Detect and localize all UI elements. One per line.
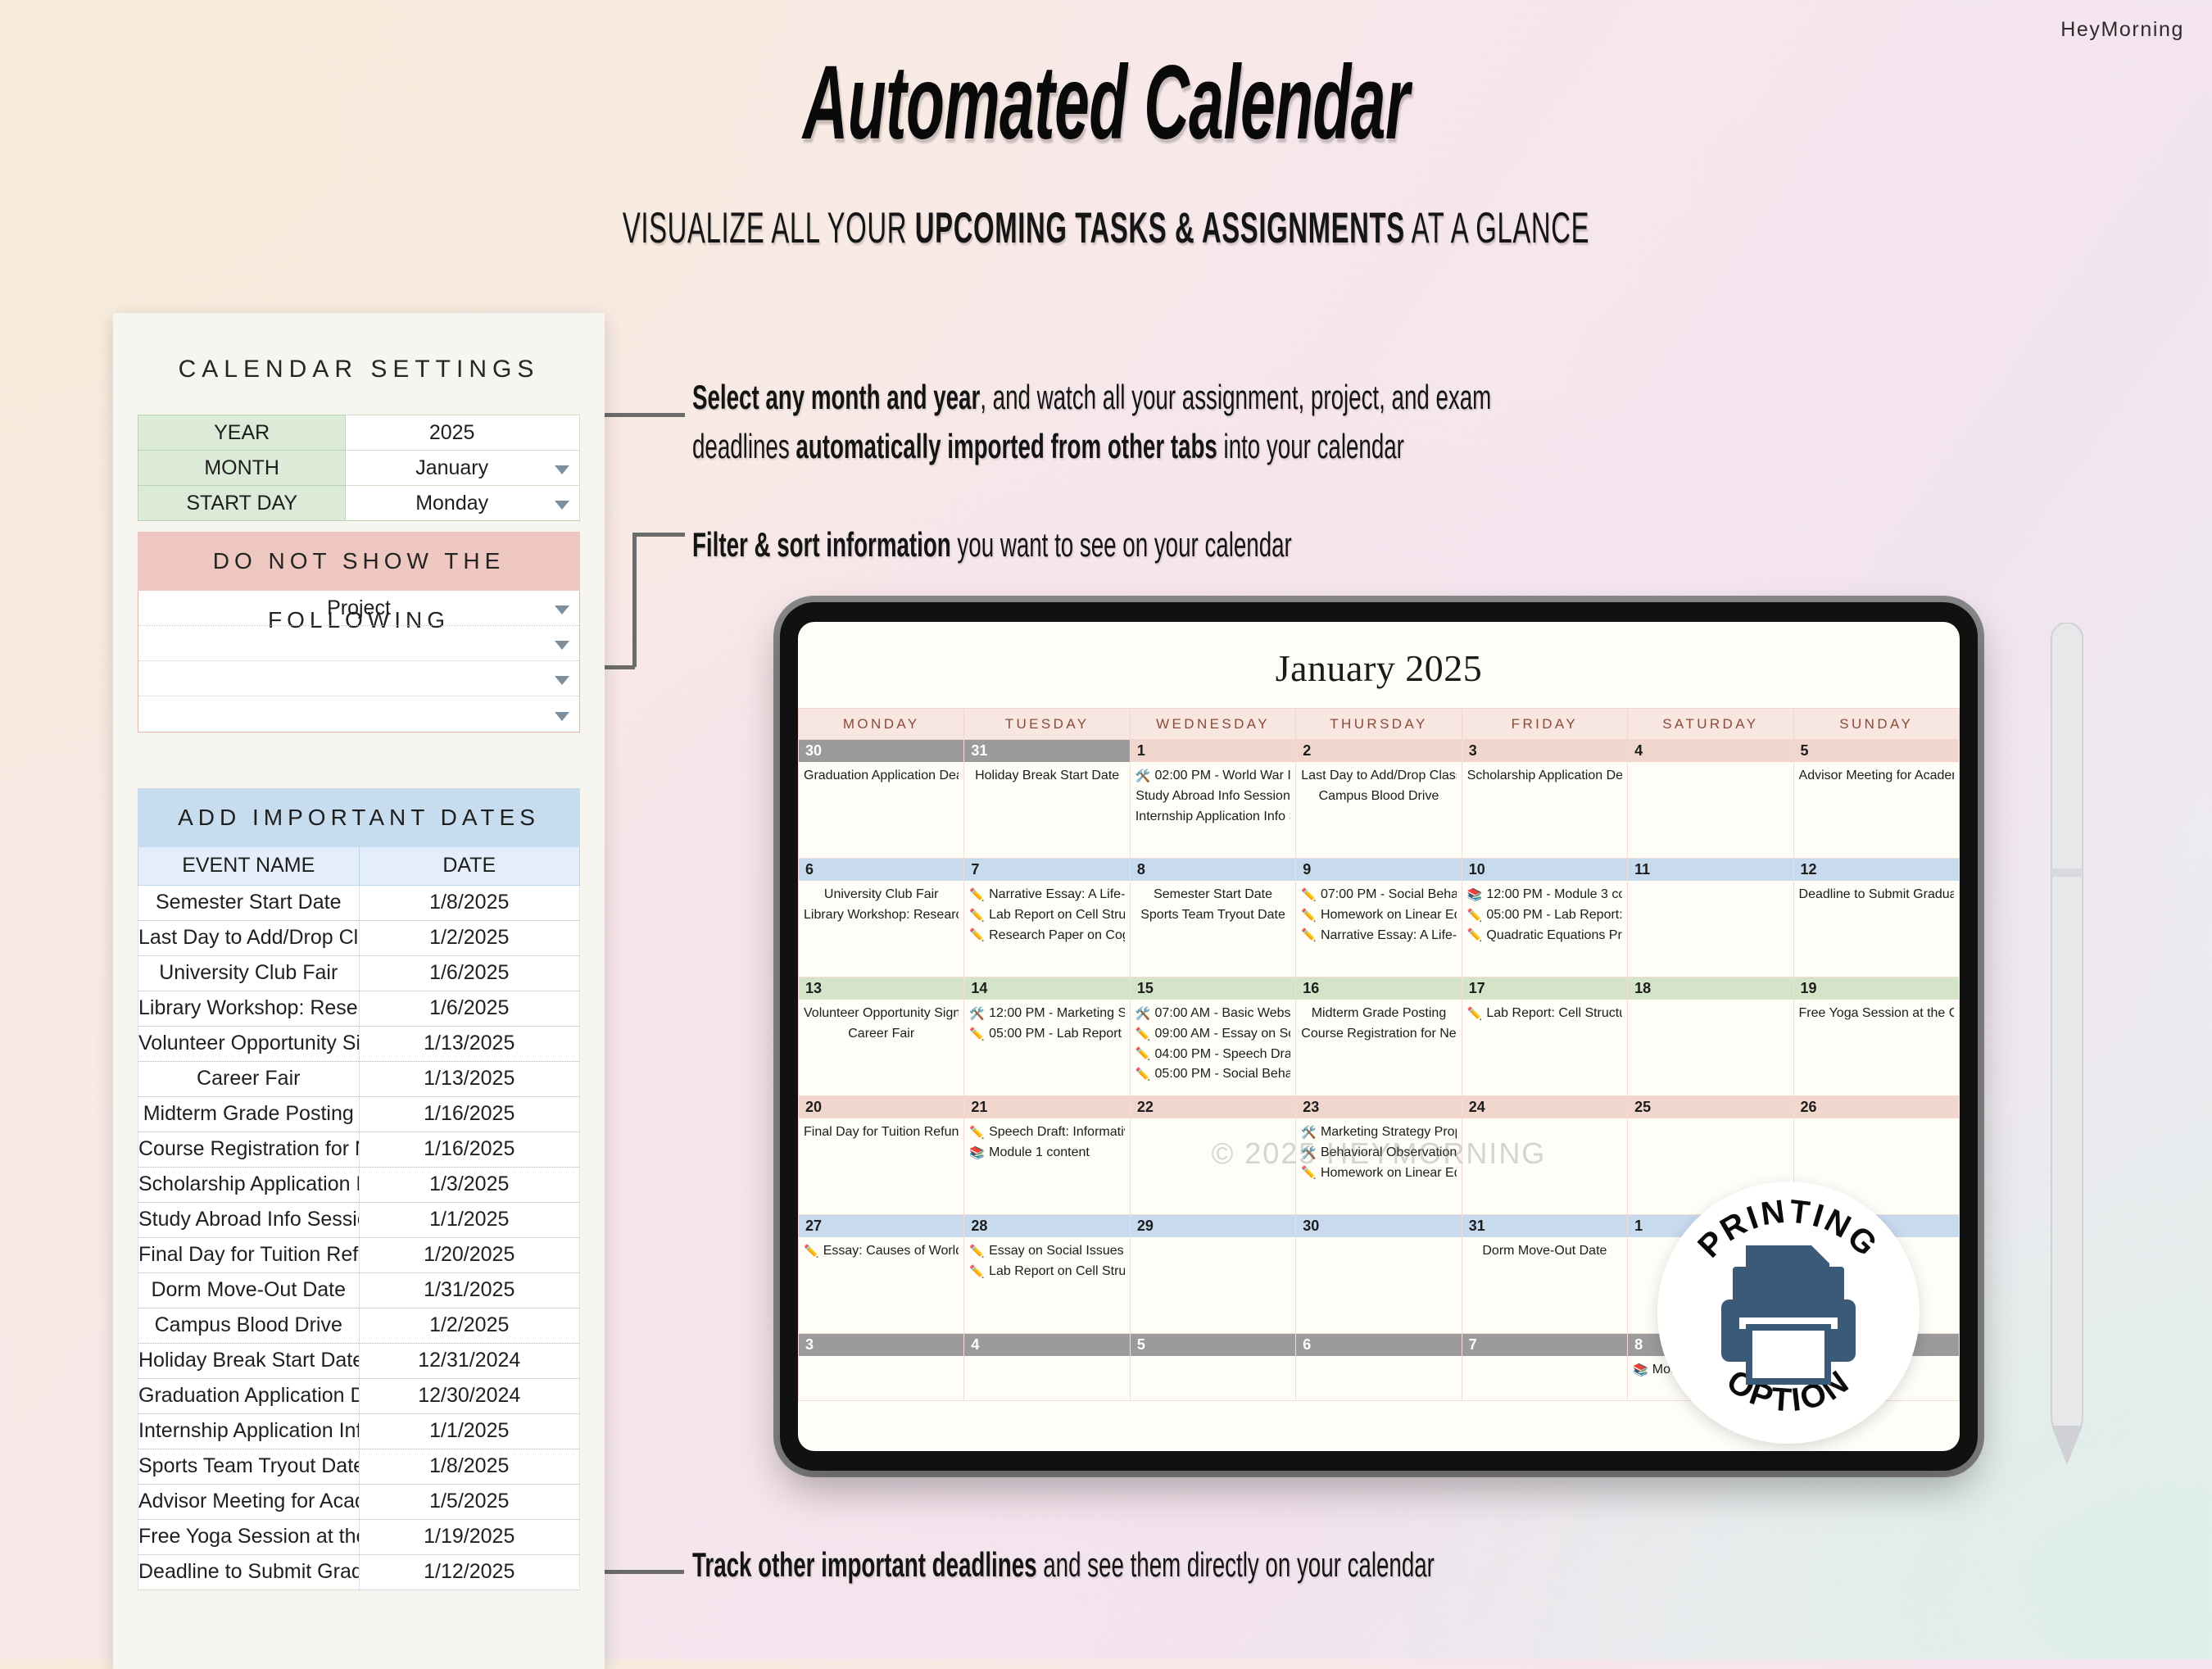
page-subtitle: VISUALIZE ALL YOUR UPCOMING TASKS & ASSI… bbox=[420, 203, 1792, 253]
spreadsheet-panel: CALENDAR SETTINGS YEAR 2025 MONTH Januar… bbox=[113, 313, 605, 1669]
calendar-week-row: 6University Club FairLibrary Workshop: R… bbox=[799, 859, 1960, 977]
day-number: 26 bbox=[1794, 1096, 1959, 1118]
calendar-day-cell[interactable]: 19Free Yoga Session at the Gym bbox=[1793, 977, 1959, 1096]
pencil-icon: ✏️ bbox=[969, 1025, 985, 1044]
table-row: Career Fair1/13/2025 bbox=[138, 1061, 580, 1096]
do-not-show-row[interactable] bbox=[138, 626, 579, 661]
day-events: ✏️Essay on Social Issues✏️Lab Report on … bbox=[964, 1237, 1129, 1282]
calendar-day-cell[interactable]: 9✏️07:00 PM - Social Behavior Case Study… bbox=[1296, 859, 1462, 977]
calendar-event-text: Scholarship Application Deadline bbox=[1467, 769, 1622, 782]
event-name-cell[interactable]: Holiday Break Start Date bbox=[138, 1343, 360, 1378]
calendar-event-text: University Club Fair bbox=[824, 887, 939, 901]
calendar-event[interactable]: Volunteer Opportunity Signup Deadline bbox=[804, 1004, 959, 1024]
day-number: 21 bbox=[964, 1096, 1129, 1118]
calendar-event-text: Quadratic Equations Problem Set bbox=[1486, 926, 1622, 946]
calendar-event[interactable]: 🛠️02:00 PM - World War II Research Paper bbox=[1135, 766, 1290, 787]
calendar-event[interactable]: Dorm Move-Out Date bbox=[1467, 1241, 1622, 1262]
calendar-day-cell[interactable]: 31Holiday Break Start Date bbox=[964, 740, 1130, 859]
calendar-day-cell[interactable]: 15🛠️07:00 AM - Basic Website Development… bbox=[1130, 977, 1295, 1096]
settings-row-month: MONTH January bbox=[138, 451, 580, 486]
calendar-event-text: 05:00 PM - Lab Report on Chemical Reacti… bbox=[989, 1024, 1125, 1045]
calendar-event[interactable]: ✏️Homework on Linear Equations bbox=[1301, 905, 1456, 926]
event-name-cell[interactable]: Scholarship Application Deadline bbox=[138, 1167, 360, 1202]
day-number: 28 bbox=[964, 1215, 1129, 1237]
calendar-event[interactable]: Midterm Grade Posting bbox=[1301, 1004, 1456, 1024]
calendar-event-text: Marketing Strategy Proposal bbox=[1321, 1122, 1457, 1143]
calendar-settings-table: YEAR 2025 MONTH January START DAY Monday bbox=[138, 415, 580, 521]
table-row: Study Abroad Info Session1/1/2025 bbox=[138, 1202, 580, 1237]
chevron-down-icon[interactable] bbox=[555, 641, 569, 650]
tools-icon: 🛠️ bbox=[1135, 1005, 1151, 1023]
event-date-cell[interactable]: 1/1/2025 bbox=[359, 1202, 580, 1237]
calendar-event[interactable]: 🛠️Behavioral Observation Report bbox=[1301, 1143, 1456, 1163]
calendar-event-text: Research Paper on Cognitive Biases bbox=[989, 926, 1125, 946]
calendar-event[interactable]: ✏️Lab Report on Cell Structure bbox=[969, 905, 1124, 926]
pencil-icon: ✏️ bbox=[1301, 926, 1317, 945]
calendar-day-cell[interactable]: 5 bbox=[1130, 1334, 1295, 1401]
calendar-event[interactable]: Campus Blood Drive bbox=[1301, 787, 1456, 807]
event-name-cell[interactable]: Library Workshop: Research Skills bbox=[138, 991, 360, 1026]
calendar-event-text: Course Registration for Next Semester Op… bbox=[1301, 1027, 1456, 1041]
calendar-day-cell[interactable]: 14🛠️12:00 PM - Marketing Strategy Propos… bbox=[964, 977, 1130, 1096]
calendar-day-cell[interactable]: 10📚12:00 PM - Module 3 content✏️05:00 PM… bbox=[1462, 859, 1627, 977]
calendar-day-cell[interactable]: 11 bbox=[1628, 859, 1793, 977]
event-name-cell[interactable]: Midterm Grade Posting bbox=[138, 1096, 360, 1132]
calendar-event[interactable]: ✏️07:00 PM - Social Behavior Case Study bbox=[1301, 885, 1456, 905]
calendar-week-row: 30Graduation Application Deadline31Holid… bbox=[799, 740, 1960, 859]
event-date-cell[interactable]: 1/20/2025 bbox=[359, 1237, 580, 1272]
day-number: 4 bbox=[964, 1334, 1129, 1356]
calendar-event[interactable]: Internship Application Info Session bbox=[1135, 807, 1290, 828]
calendar-day-cell[interactable]: 31Dorm Move-Out Date bbox=[1462, 1215, 1627, 1334]
day-number: 2 bbox=[1296, 740, 1461, 762]
day-events: Free Yoga Session at the Gym bbox=[1794, 1000, 1959, 1024]
do-not-show-row[interactable] bbox=[138, 661, 579, 696]
pencil-icon: ✏️ bbox=[1301, 886, 1317, 905]
calendar-event-text: 07:00 PM - Social Behavior Case Study bbox=[1321, 885, 1457, 905]
calendar-day-cell[interactable]: 18 bbox=[1628, 977, 1793, 1096]
calendar-event[interactable]: Graduation Application Deadline bbox=[804, 766, 959, 787]
calendar-day-cell[interactable]: 4 bbox=[964, 1334, 1130, 1401]
day-events: Advisor Meeting for Academic Planning bbox=[1794, 762, 1959, 787]
pencil-icon: ✏️ bbox=[1467, 906, 1483, 925]
settings-row-year: YEAR 2025 bbox=[138, 415, 580, 451]
day-number: 7 bbox=[964, 859, 1129, 881]
event-name-cell[interactable]: Deadline to Submit Graduation Cap & Gown bbox=[138, 1554, 360, 1590]
calendar-event[interactable]: ✏️05:00 PM - Lab Report on Chemical Reac… bbox=[969, 1024, 1124, 1045]
event-name-cell[interactable]: Free Yoga Session at the Gym bbox=[138, 1519, 360, 1554]
calendar-day-cell[interactable]: 6 bbox=[1296, 1334, 1462, 1401]
calendar-event-text: 05:00 PM - Lab Report: Cell Structure An… bbox=[1486, 905, 1622, 926]
table-row: Free Yoga Session at the Gym1/19/2025 bbox=[138, 1519, 580, 1554]
calendar-day-cell[interactable]: 5Advisor Meeting for Academic Planning bbox=[1793, 740, 1959, 859]
event-name-cell[interactable]: Last Day to Add/Drop Classes bbox=[138, 920, 360, 955]
event-date-cell[interactable]: 1/5/2025 bbox=[359, 1484, 580, 1519]
calendar-event[interactable]: Sports Team Tryout Date bbox=[1135, 905, 1290, 926]
weekday-header-sunday: SUNDAY bbox=[1793, 709, 1959, 740]
calendar-day-cell[interactable]: 6University Club FairLibrary Workshop: R… bbox=[799, 859, 964, 977]
event-name-cell[interactable]: Dorm Move-Out Date bbox=[138, 1272, 360, 1308]
calendar-day-cell[interactable]: 22 bbox=[1130, 1096, 1295, 1215]
printing-option-badge: PRINTING OPTION bbox=[1657, 1181, 1920, 1444]
calendar-day-cell[interactable]: 4 bbox=[1628, 740, 1793, 859]
calendar-event-text: Internship Application Info Session bbox=[1135, 810, 1290, 823]
pencil-icon: ✏️ bbox=[1467, 1005, 1483, 1023]
pencil-icon: ✏️ bbox=[969, 886, 985, 905]
do-not-show-section: DO NOT SHOW THE FOLLOWING Project bbox=[138, 532, 580, 732]
calendar-event-text: Dorm Move-Out Date bbox=[1482, 1244, 1607, 1258]
settings-label-month: MONTH bbox=[138, 451, 346, 486]
day-events: Volunteer Opportunity Signup DeadlineCar… bbox=[799, 1000, 963, 1045]
table-row: Internship Application Info Session1/1/2… bbox=[138, 1413, 580, 1449]
calendar-event[interactable]: 🛠️07:00 AM - Basic Website Development bbox=[1135, 1004, 1290, 1024]
calendar-event[interactable]: ✏️05:00 PM - Social Behavior Case Study bbox=[1135, 1064, 1290, 1085]
calendar-day-cell[interactable]: 2Last Day to Add/Drop ClassesCampus Bloo… bbox=[1296, 740, 1462, 859]
day-number: 5 bbox=[1131, 1334, 1295, 1356]
tools-icon: 🛠️ bbox=[969, 1005, 985, 1023]
table-row: Graduation Application Deadline12/30/202… bbox=[138, 1378, 580, 1413]
day-events bbox=[1296, 1237, 1461, 1241]
calendar-event[interactable]: Last Day to Add/Drop Classes bbox=[1301, 766, 1456, 787]
event-date-cell[interactable]: 1/3/2025 bbox=[359, 1167, 580, 1202]
event-date-cell[interactable]: 12/31/2024 bbox=[359, 1343, 580, 1378]
event-date-cell[interactable]: 1/31/2025 bbox=[359, 1272, 580, 1308]
calendar-event[interactable]: ✏️Research Paper on Cognitive Biases bbox=[969, 926, 1124, 946]
pencil-icon: ✏️ bbox=[1135, 1065, 1151, 1084]
day-events: ✏️Narrative Essay: A Life-Changing Exper… bbox=[964, 881, 1129, 946]
calendar-event[interactable]: Study Abroad Info Session bbox=[1135, 787, 1290, 807]
calendar-event[interactable]: Free Yoga Session at the Gym bbox=[1799, 1004, 1954, 1024]
day-events: 🛠️12:00 PM - Marketing Strategy Proposal… bbox=[964, 1000, 1129, 1045]
chevron-down-icon[interactable] bbox=[555, 712, 569, 721]
weekday-header-saturday: SATURDAY bbox=[1628, 709, 1793, 740]
day-number: 10 bbox=[1462, 859, 1627, 881]
calendar-settings-section: CALENDAR SETTINGS YEAR 2025 MONTH Januar… bbox=[113, 313, 605, 521]
calendar-event[interactable]: ✏️Essay on Social Issues bbox=[969, 1241, 1124, 1262]
calendar-day-cell[interactable]: 1🛠️02:00 PM - World War II Research Pape… bbox=[1130, 740, 1295, 859]
calendar-event[interactable]: ✏️Homework on Linear Equations bbox=[1301, 1163, 1456, 1184]
calendar-event[interactable]: 🛠️12:00 PM - Marketing Strategy Proposal bbox=[969, 1004, 1124, 1024]
event-date-cell[interactable]: 1/1/2025 bbox=[359, 1413, 580, 1449]
day-events bbox=[799, 1356, 963, 1360]
day-number: 8 bbox=[1131, 859, 1295, 881]
leader-vline-filter bbox=[632, 533, 637, 667]
calendar-event[interactable]: 📚Module 1 content bbox=[969, 1143, 1124, 1163]
calendar-event[interactable]: Holiday Break Start Date bbox=[969, 766, 1124, 787]
calendar-day-cell[interactable]: 30 bbox=[1296, 1215, 1462, 1334]
event-name-cell[interactable]: Study Abroad Info Session bbox=[138, 1202, 360, 1237]
chevron-down-icon[interactable] bbox=[555, 465, 569, 474]
event-date-cell[interactable]: 1/13/2025 bbox=[359, 1026, 580, 1061]
pencil-icon: ✏️ bbox=[969, 1242, 985, 1261]
subtitle-post: AT A GLANCE bbox=[1405, 204, 1589, 252]
tools-icon: 🛠️ bbox=[1301, 1144, 1317, 1163]
weekday-header-tuesday: TUESDAY bbox=[964, 709, 1130, 740]
day-events bbox=[1462, 1118, 1627, 1122]
books-icon: 📚 bbox=[1467, 886, 1483, 905]
annotation-track-deadlines: Track other important deadlines and see … bbox=[692, 1540, 1435, 1590]
calendar-day-cell[interactable]: 12Deadline to Submit Graduation Cap & Go… bbox=[1793, 859, 1959, 977]
event-date-cell[interactable]: 1/12/2025 bbox=[359, 1554, 580, 1590]
pencil-icon: ✏️ bbox=[969, 1263, 985, 1281]
calendar-event[interactable]: University Club Fair bbox=[804, 885, 959, 905]
day-events: Dorm Move-Out Date bbox=[1462, 1237, 1627, 1262]
day-number: 14 bbox=[964, 977, 1129, 1000]
day-events bbox=[1628, 1118, 1793, 1122]
event-date-cell[interactable]: 1/8/2025 bbox=[359, 1449, 580, 1484]
event-date-cell[interactable]: 1/6/2025 bbox=[359, 955, 580, 991]
important-dates-table: EVENT NAME DATE Semester Start Date1/8/2… bbox=[138, 847, 580, 1590]
calendar-event-text: Homework on Linear Equations bbox=[1321, 1163, 1457, 1184]
calendar-day-cell[interactable]: 29 bbox=[1130, 1215, 1295, 1334]
table-row: Advisor Meeting for Academic Planning1/5… bbox=[138, 1484, 580, 1519]
chevron-down-icon[interactable] bbox=[555, 605, 569, 615]
note2-rest: you want to see on your calendar bbox=[951, 525, 1292, 564]
day-events: 🛠️Marketing Strategy Proposal🛠️Behaviora… bbox=[1296, 1118, 1461, 1183]
day-number: 19 bbox=[1794, 977, 1959, 1000]
event-name-cell[interactable]: Campus Blood Drive bbox=[138, 1308, 360, 1343]
calendar-event[interactable]: 📚12:00 PM - Module 3 content bbox=[1467, 885, 1622, 905]
calendar-event[interactable]: Final Day for Tuition Refund bbox=[804, 1122, 959, 1143]
day-number: 30 bbox=[1296, 1215, 1461, 1237]
do-not-show-value: Project bbox=[327, 596, 391, 619]
calendar-settings-title: CALENDAR SETTINGS bbox=[138, 356, 580, 383]
annotation-select-month-year: Select any month and year, and watch all… bbox=[692, 373, 1491, 470]
day-events bbox=[1628, 762, 1793, 766]
calendar-day-cell[interactable]: 17✏️Lab Report: Cell Structure Analysis bbox=[1462, 977, 1627, 1096]
calendar-event-text: 12:00 PM - Marketing Strategy Proposal bbox=[989, 1004, 1125, 1024]
day-number: 29 bbox=[1131, 1215, 1295, 1237]
day-number: 22 bbox=[1131, 1096, 1295, 1118]
pencil-icon: ✏️ bbox=[1301, 906, 1317, 925]
settings-label-year: YEAR bbox=[138, 415, 346, 451]
note2-bold: Filter & sort information bbox=[692, 525, 951, 564]
printing-badge-graphic: PRINTING OPTION bbox=[1657, 1181, 1920, 1444]
calendar-event-text: Behavioral Observation Report bbox=[1321, 1143, 1457, 1163]
calendar-day-cell[interactable]: 24 bbox=[1462, 1096, 1627, 1215]
calendar-event[interactable]: ✏️Speech Draft: Informative Topic bbox=[969, 1122, 1124, 1143]
day-events: Final Day for Tuition Refund bbox=[799, 1118, 963, 1143]
event-name-cell[interactable]: Internship Application Info Session bbox=[138, 1413, 360, 1449]
calendar-event[interactable]: Scholarship Application Deadline bbox=[1467, 766, 1622, 787]
table-row: Sports Team Tryout Date1/8/2025 bbox=[138, 1449, 580, 1484]
pencil-icon: ✏️ bbox=[1301, 1163, 1317, 1182]
calendar-event-text: Homework on Linear Equations bbox=[1321, 905, 1457, 926]
calendar-event[interactable]: ✏️Lab Report on Cell Structure bbox=[969, 1262, 1124, 1282]
calendar-day-cell[interactable]: 27✏️Essay: Causes of World War I bbox=[799, 1215, 964, 1334]
calendar-day-cell[interactable]: 3 bbox=[799, 1334, 964, 1401]
leader-line-filter-top bbox=[632, 533, 685, 537]
calendar-day-cell[interactable]: 7✏️Narrative Essay: A Life-Changing Expe… bbox=[964, 859, 1130, 977]
day-number: 31 bbox=[1462, 1215, 1627, 1237]
day-events bbox=[1296, 1356, 1461, 1360]
calendar-event-text: Semester Start Date bbox=[1154, 887, 1272, 901]
event-name-cell[interactable]: Sports Team Tryout Date bbox=[138, 1449, 360, 1484]
calendar-event[interactable]: Semester Start Date bbox=[1135, 885, 1290, 905]
day-events: Semester Start DateSports Team Tryout Da… bbox=[1131, 881, 1295, 926]
stylus-pen bbox=[2048, 623, 2086, 1467]
calendar-event-text: Volunteer Opportunity Signup Deadline bbox=[804, 1006, 959, 1020]
event-name-cell[interactable]: Graduation Application Deadline bbox=[138, 1378, 360, 1413]
calendar-day-cell[interactable]: 7 bbox=[1462, 1334, 1627, 1401]
calendar-event[interactable]: ✏️04:00 PM - Speech Draft: Informative T… bbox=[1135, 1045, 1290, 1065]
table-row: Midterm Grade Posting1/16/2025 bbox=[138, 1096, 580, 1132]
calendar-event-text: 04:00 PM - Speech Draft: Informative Top… bbox=[1155, 1045, 1291, 1065]
table-row: Holiday Break Start Date12/31/2024 bbox=[138, 1343, 580, 1378]
chevron-down-icon[interactable] bbox=[555, 501, 569, 510]
calendar-event[interactable]: ✏️Lab Report: Cell Structure Analysis bbox=[1467, 1004, 1622, 1024]
table-row: Scholarship Application Deadline1/3/2025 bbox=[138, 1167, 580, 1202]
calendar-event-text: Lab Report: Cell Structure Analysis bbox=[1486, 1004, 1622, 1024]
event-date-cell[interactable]: 1/6/2025 bbox=[359, 991, 580, 1026]
day-number: 4 bbox=[1628, 740, 1793, 762]
event-name-cell[interactable]: Final Day for Tuition Refund bbox=[138, 1237, 360, 1272]
calendar-event-text: Lab Report on Cell Structure bbox=[989, 1262, 1125, 1282]
day-events: ✏️Speech Draft: Informative Topic📚Module… bbox=[964, 1118, 1129, 1163]
books-icon: 📚 bbox=[969, 1144, 985, 1163]
day-number: 1 bbox=[1131, 740, 1295, 762]
calendar-event[interactable]: ✏️05:00 PM - Lab Report: Cell Structure … bbox=[1467, 905, 1622, 926]
pencil-icon: ✏️ bbox=[1135, 1045, 1151, 1064]
pencil-icon: ✏️ bbox=[969, 1123, 985, 1142]
day-number: 23 bbox=[1296, 1096, 1461, 1118]
calendar-event-text: Last Day to Add/Drop Classes bbox=[1301, 769, 1456, 782]
table-row: Semester Start Date1/8/2025 bbox=[138, 885, 580, 920]
event-date-cell[interactable]: 1/19/2025 bbox=[359, 1519, 580, 1554]
calendar-day-cell[interactable]: 30Graduation Application Deadline bbox=[799, 740, 964, 859]
day-number: 3 bbox=[799, 1334, 963, 1356]
table-row: Final Day for Tuition Refund1/20/2025 bbox=[138, 1237, 580, 1272]
calendar-day-cell[interactable]: 28✏️Essay on Social Issues✏️Lab Report o… bbox=[964, 1215, 1130, 1334]
chevron-down-icon[interactable] bbox=[555, 676, 569, 685]
calendar-event[interactable]: ✏️Narrative Essay: A Life-Changing Exper… bbox=[969, 885, 1124, 905]
do-not-show-list: Project bbox=[138, 591, 580, 732]
calendar-event[interactable]: ✏️09:00 AM - Essay on Social Issues bbox=[1135, 1024, 1290, 1045]
day-number: 20 bbox=[799, 1096, 963, 1118]
calendar-day-cell[interactable]: 8Semester Start DateSports Team Tryout D… bbox=[1130, 859, 1295, 977]
calendar-event-text: 09:00 AM - Essay on Social Issues bbox=[1155, 1024, 1291, 1045]
day-number: 12 bbox=[1794, 859, 1959, 881]
calendar-week-row: 13Volunteer Opportunity Signup DeadlineC… bbox=[799, 977, 1960, 1096]
calendar-event[interactable]: ✏️Quadratic Equations Problem Set bbox=[1467, 926, 1622, 946]
day-events bbox=[1131, 1118, 1295, 1122]
calendar-event-text: Lab Report on Cell Structure bbox=[989, 905, 1125, 926]
do-not-show-title: DO NOT SHOW THE FOLLOWING bbox=[138, 532, 580, 591]
calendar-event[interactable]: ✏️Essay: Causes of World War I bbox=[804, 1241, 959, 1262]
day-events: 🛠️07:00 AM - Basic Website Development✏️… bbox=[1131, 1000, 1295, 1085]
day-events: Midterm Grade PostingCourse Registration… bbox=[1296, 1000, 1461, 1045]
event-date-cell[interactable]: 1/2/2025 bbox=[359, 1308, 580, 1343]
event-date-cell[interactable]: 1/2/2025 bbox=[359, 920, 580, 955]
day-events bbox=[1628, 1000, 1793, 1004]
event-name-cell[interactable]: Volunteer Opportunity Signup Deadline bbox=[138, 1026, 360, 1061]
page-title: Automated Calendar bbox=[442, 43, 1770, 163]
calendar-day-cell[interactable]: 23🛠️Marketing Strategy Proposal🛠️Behavio… bbox=[1296, 1096, 1462, 1215]
event-name-cell[interactable]: University Club Fair bbox=[138, 955, 360, 991]
calendar-event[interactable]: Deadline to Submit Graduation Cap & Gown bbox=[1799, 885, 1954, 905]
settings-value-start-day-text: Monday bbox=[415, 492, 488, 515]
calendar-event[interactable]: Course Registration for Next Semester Op… bbox=[1301, 1024, 1456, 1045]
settings-value-month[interactable]: January bbox=[346, 451, 580, 486]
calendar-day-cell[interactable]: 21✏️Speech Draft: Informative Topic📚Modu… bbox=[964, 1096, 1130, 1215]
event-date-cell[interactable]: 1/13/2025 bbox=[359, 1061, 580, 1096]
calendar-event[interactable]: 🛠️Marketing Strategy Proposal bbox=[1301, 1122, 1456, 1143]
event-name-cell[interactable]: Advisor Meeting for Academic Planning bbox=[138, 1484, 360, 1519]
settings-label-start-day: START DAY bbox=[138, 486, 346, 521]
event-date-cell[interactable]: 1/16/2025 bbox=[359, 1096, 580, 1132]
weekday-header-monday: MONDAY bbox=[799, 709, 964, 740]
settings-value-year[interactable]: 2025 bbox=[346, 415, 580, 451]
tools-icon: 🛠️ bbox=[1301, 1123, 1317, 1142]
settings-value-month-text: January bbox=[415, 456, 488, 479]
event-name-cell[interactable]: Semester Start Date bbox=[138, 885, 360, 920]
note1-rest-3: into your calendar bbox=[1217, 427, 1404, 465]
event-name-cell[interactable]: Career Fair bbox=[138, 1061, 360, 1096]
do-not-show-row[interactable]: Project bbox=[138, 591, 579, 626]
day-number: 6 bbox=[799, 859, 963, 881]
calendar-event-text: Sports Team Tryout Date bbox=[1140, 908, 1285, 922]
calendar-event[interactable]: Library Workshop: Research Skills bbox=[804, 905, 959, 926]
calendar-event-text: 02:00 PM - World War II Research Paper bbox=[1155, 766, 1291, 787]
day-events bbox=[1794, 1118, 1959, 1122]
day-events: University Club FairLibrary Workshop: Re… bbox=[799, 881, 963, 926]
calendar-event-text: Campus Blood Drive bbox=[1319, 789, 1439, 803]
day-number: 27 bbox=[799, 1215, 963, 1237]
calendar-event-text: Final Day for Tuition Refund bbox=[804, 1125, 959, 1139]
day-number: 17 bbox=[1462, 977, 1627, 1000]
day-number: 25 bbox=[1628, 1096, 1793, 1118]
day-events: Scholarship Application Deadline bbox=[1462, 762, 1627, 787]
calendar-event-text: Midterm Grade Posting bbox=[1312, 1006, 1447, 1020]
note1-bold-2: automatically imported from other tabs bbox=[796, 427, 1217, 465]
day-events: ✏️Essay: Causes of World War I bbox=[799, 1237, 963, 1262]
calendar-event[interactable]: ✏️Narrative Essay: A Life-Changing Exper… bbox=[1301, 926, 1456, 946]
day-number: 30 bbox=[799, 740, 963, 762]
day-number: 24 bbox=[1462, 1096, 1627, 1118]
calendar-day-cell[interactable]: 13Volunteer Opportunity Signup DeadlineC… bbox=[799, 977, 964, 1096]
calendar-event-text: 07:00 AM - Basic Website Development bbox=[1155, 1004, 1291, 1024]
day-number: 6 bbox=[1296, 1334, 1461, 1356]
day-number: 31 bbox=[964, 740, 1129, 762]
note3-bold: Track other important deadlines bbox=[692, 1545, 1037, 1584]
do-not-show-row[interactable] bbox=[138, 696, 579, 732]
calendar-event[interactable]: Career Fair bbox=[804, 1024, 959, 1045]
event-name-cell[interactable]: Course Registration for Next Semester Op… bbox=[138, 1132, 360, 1167]
tools-icon: 🛠️ bbox=[1135, 767, 1151, 786]
event-date-cell[interactable]: 1/16/2025 bbox=[359, 1132, 580, 1167]
brand-logo: HeyMorning bbox=[2060, 18, 2184, 42]
calendar-event-text: Study Abroad Info Session bbox=[1135, 789, 1290, 803]
important-dates-section: ADD IMPORTANT DATES EVENT NAME DATE Seme… bbox=[138, 788, 580, 1590]
calendar-day-cell[interactable]: 20Final Day for Tuition Refund bbox=[799, 1096, 964, 1215]
event-date-cell[interactable]: 1/8/2025 bbox=[359, 885, 580, 920]
calendar-event-text: Library Workshop: Research Skills bbox=[804, 908, 959, 922]
important-dates-title: ADD IMPORTANT DATES bbox=[138, 788, 580, 847]
event-date-cell[interactable]: 12/30/2024 bbox=[359, 1378, 580, 1413]
day-events bbox=[964, 1356, 1129, 1360]
table-row: University Club Fair1/6/2025 bbox=[138, 955, 580, 991]
calendar-day-cell[interactable]: 3Scholarship Application Deadline bbox=[1462, 740, 1627, 859]
settings-value-start-day[interactable]: Monday bbox=[346, 486, 580, 521]
pencil-icon: ✏️ bbox=[804, 1242, 819, 1261]
pencil-icon: ✏️ bbox=[1467, 926, 1483, 945]
settings-row-start-day: START DAY Monday bbox=[138, 486, 580, 521]
settings-value-year-text: 2025 bbox=[429, 421, 475, 444]
day-events bbox=[1462, 1356, 1627, 1360]
calendar-event[interactable]: Advisor Meeting for Academic Planning bbox=[1799, 766, 1954, 787]
day-number: 7 bbox=[1462, 1334, 1627, 1356]
calendar-day-cell[interactable]: 16Midterm Grade PostingCourse Registrati… bbox=[1296, 977, 1462, 1096]
